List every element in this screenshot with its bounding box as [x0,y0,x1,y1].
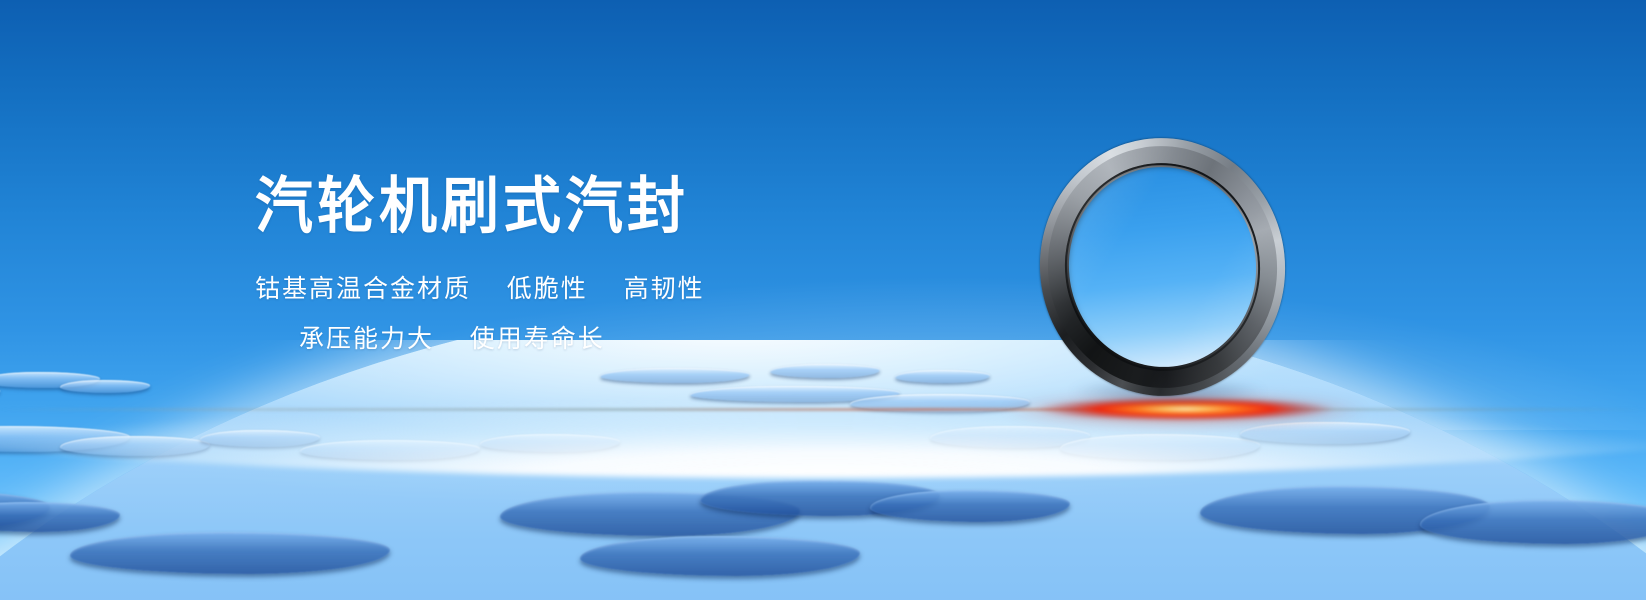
landmass [1420,500,1646,544]
landmass [580,536,860,576]
feature-line-1: 钴基高温合金材质 低脆性 高韧性 [255,264,705,314]
landmass [0,502,120,532]
earth-globe [0,340,1646,600]
landmass [70,532,390,574]
feature-line-2: 承压能力大 使用寿命长 [255,314,705,364]
banner-copy: 汽轮机刷式汽封 钴基高温合金材质 低脆性 高韧性 承压能力大 使用寿命长 [255,174,705,364]
feature-list: 钴基高温合金材质 低脆性 高韧性 承压能力大 使用寿命长 [255,264,705,364]
hero-banner: 汽轮机刷式汽封 钴基高温合金材质 低脆性 高韧性 承压能力大 使用寿命长 [0,0,1646,600]
landmass [870,490,1070,522]
page-title: 汽轮机刷式汽封 [255,174,705,240]
brush-seal-ring [1027,126,1298,408]
